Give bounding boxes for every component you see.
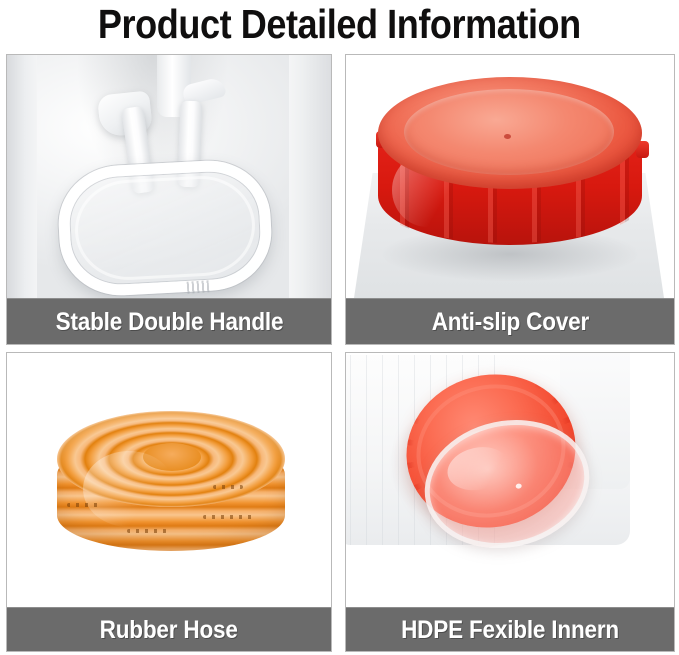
page-header: Product Detailed Information: [0, 0, 679, 48]
caption-label-handle: Stable Double Handle: [55, 309, 283, 335]
feature-cell-handle: Stable Double Handle: [0, 48, 337, 348]
hose-printed-marking: [127, 529, 167, 533]
coiled-orange-rubber-hose-photo: [7, 353, 331, 607]
caption-bar-liner: HDPE Fexible Innern: [346, 607, 674, 651]
feature-panel-liner: HDPE Fexible Innern: [345, 352, 675, 652]
feature-panel-hose: Rubber Hose: [6, 352, 332, 652]
red-cap-center-mark: [504, 134, 511, 139]
hdpe-flexible-inner-liner-photo: [346, 353, 674, 607]
feature-cell-liner: HDPE Fexible Innern: [337, 348, 679, 655]
liner-scene: [346, 353, 674, 607]
feature-panel-grid: Stable Double Handle: [0, 48, 679, 655]
caption-label-liner: HDPE Fexible Innern: [401, 617, 619, 643]
tank-left-edge: [7, 55, 37, 298]
handle-grip-ribs: [187, 280, 210, 294]
red-anti-slip-cover-photo: [346, 55, 674, 298]
handle-scene: [7, 55, 331, 298]
hose-printed-marking: [67, 503, 101, 507]
feature-panel-cover: Anti-slip Cover: [345, 54, 675, 345]
caption-label-hose: Rubber Hose: [100, 617, 238, 643]
red-cap-top-recess: [404, 89, 614, 175]
translucent-double-handle-photo: [7, 55, 331, 298]
cover-scene: [346, 55, 674, 298]
hose-scene: [7, 353, 331, 607]
liner-film-specular-dot: [515, 483, 522, 489]
hose-coil: [57, 411, 285, 553]
page-title: Product Detailed Information: [98, 3, 581, 45]
hose-printed-marking: [213, 485, 243, 489]
product-detail-infographic: Product Detailed Information: [0, 0, 679, 655]
liner-film-highlight: [443, 442, 512, 496]
hose-coil-highlight: [83, 451, 175, 527]
caption-bar-hose: Rubber Hose: [7, 607, 331, 651]
hose-printed-marking: [203, 515, 255, 519]
caption-bar-cover: Anti-slip Cover: [346, 298, 674, 344]
feature-panel-handle: Stable Double Handle: [6, 54, 332, 345]
feature-cell-hose: Rubber Hose: [0, 348, 337, 655]
feature-cell-cover: Anti-slip Cover: [337, 48, 679, 348]
handle-grip-loop: [56, 158, 275, 298]
caption-label-cover: Anti-slip Cover: [431, 309, 588, 335]
caption-bar-handle: Stable Double Handle: [7, 298, 331, 344]
tank-right-edge: [289, 55, 331, 298]
